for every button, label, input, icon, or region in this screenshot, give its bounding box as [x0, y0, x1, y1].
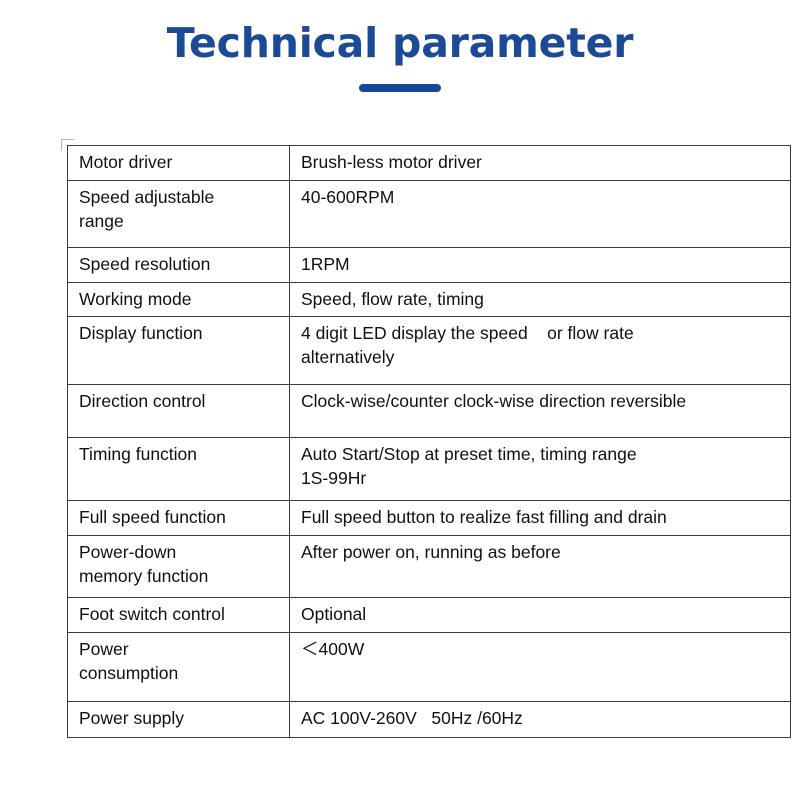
spec-value-text: Auto Start/Stop at preset time, timing r… — [301, 443, 781, 491]
table-row: Full speed function Full speed button to… — [68, 501, 791, 536]
page-title: Technical parameter — [0, 22, 800, 65]
spec-value-cell: Brush-less motor driver — [290, 146, 791, 181]
spec-label-text: Foot switch control — [79, 603, 280, 627]
spec-label-text: Timing function — [79, 443, 280, 467]
spec-label-text: Motor driver — [79, 151, 280, 175]
spec-label-text: Display function — [79, 322, 280, 346]
spec-value-cell: 1RPM — [290, 247, 791, 282]
spec-value-cell: Auto Start/Stop at preset time, timing r… — [290, 438, 791, 501]
table-row: Speed resolution 1RPM — [68, 247, 791, 282]
spec-label-cell: Working mode — [68, 282, 290, 317]
title-accent-bar — [359, 84, 441, 92]
spec-label-cell: Direction control — [68, 385, 290, 438]
spec-label-text: Power supply — [79, 707, 280, 731]
table-row: Power-down memory function After power o… — [68, 536, 791, 598]
spec-label-text: Speed resolution — [79, 253, 280, 277]
spec-value-cell: Full speed button to realize fast fillin… — [290, 501, 791, 536]
table-row: Power supply AC 100V-260V 50Hz /60Hz — [68, 701, 791, 737]
table-row: Speed adjustable range 40-600RPM — [68, 180, 791, 247]
technical-parameter-table: Motor driver Brush-less motor driver Spe… — [67, 145, 791, 738]
table-row: Power consumption ＜400W — [68, 632, 791, 701]
spec-value-text: After power on, running as before — [301, 541, 781, 565]
table-row: Working mode Speed, flow rate, timing — [68, 282, 791, 317]
spec-label-cell: Speed resolution — [68, 247, 290, 282]
spec-value-text: Optional — [301, 603, 781, 627]
spec-value-text: Brush-less motor driver — [301, 151, 781, 175]
table-row: Motor driver Brush-less motor driver — [68, 146, 791, 181]
spec-value-cell: AC 100V-260V 50Hz /60Hz — [290, 701, 791, 737]
spec-table-body: Motor driver Brush-less motor driver Spe… — [68, 146, 791, 738]
table-row: Foot switch control Optional — [68, 598, 791, 633]
spec-label-cell: Motor driver — [68, 146, 290, 181]
table-row: Timing function Auto Start/Stop at prese… — [68, 438, 791, 501]
spec-label-cell: Full speed function — [68, 501, 290, 536]
spec-table-container: Motor driver Brush-less motor driver Spe… — [67, 145, 748, 738]
spec-value-text: 4 digit LED display the speed or flow ra… — [301, 322, 781, 370]
title-block: Technical parameter — [0, 22, 800, 92]
spec-label-cell: Power-down memory function — [68, 536, 290, 598]
spec-value-text: ＜400W — [301, 638, 781, 662]
spec-label-cell: Timing function — [68, 438, 290, 501]
spec-value-text: Clock-wise/counter clock-wise direction … — [301, 390, 781, 414]
spec-label-cell: Display function — [68, 317, 290, 385]
table-row: Display function 4 digit LED display the… — [68, 317, 791, 385]
spec-label-cell: Power supply — [68, 701, 290, 737]
spec-value-text: AC 100V-260V 50Hz /60Hz — [301, 707, 781, 731]
spec-value-text: 40-600RPM — [301, 186, 781, 210]
spec-value-cell: Clock-wise/counter clock-wise direction … — [290, 385, 791, 438]
spec-label-cell: Speed adjustable range — [68, 180, 290, 247]
spec-value-cell: Speed, flow rate, timing — [290, 282, 791, 317]
spec-value-cell: Optional — [290, 598, 791, 633]
spec-label-text: Full speed function — [79, 506, 280, 530]
spec-label-text: Power consumption — [79, 638, 280, 686]
spec-label-text: Working mode — [79, 288, 280, 312]
spec-value-cell: ＜400W — [290, 632, 791, 701]
spec-value-text: Speed, flow rate, timing — [301, 288, 781, 312]
spec-label-cell: Foot switch control — [68, 598, 290, 633]
spec-value-cell: 4 digit LED display the speed or flow ra… — [290, 317, 791, 385]
spec-label-text: Speed adjustable range — [79, 186, 280, 234]
table-row: Direction control Clock-wise/counter clo… — [68, 385, 791, 438]
spec-label-text: Direction control — [79, 390, 280, 414]
spec-value-cell: 40-600RPM — [290, 180, 791, 247]
spec-value-text: Full speed button to realize fast fillin… — [301, 506, 781, 530]
spec-label-text: Power-down memory function — [79, 541, 280, 589]
spec-label-cell: Power consumption — [68, 632, 290, 701]
spec-value-text: 1RPM — [301, 253, 781, 277]
spec-value-cell: After power on, running as before — [290, 536, 791, 598]
